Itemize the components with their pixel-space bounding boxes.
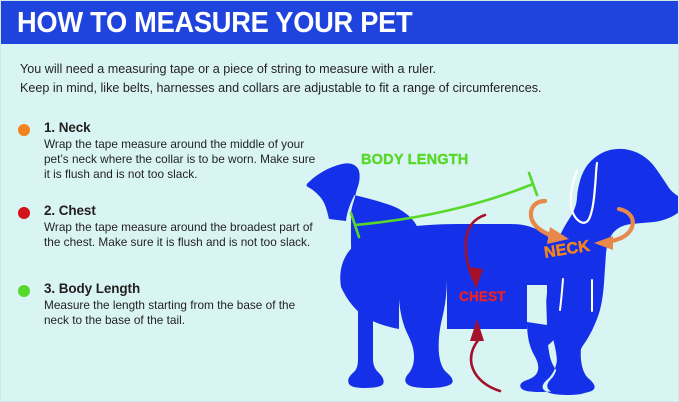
intro-line-2: Keep in mind, like belts, harnesses and … [20,79,660,98]
step-title-neck: 1. Neck [44,119,308,136]
bullet-dot-icon-chest [18,207,30,219]
step-description-chest: Wrap the tape measure around the broades… [44,220,316,250]
step-item-chest: 2. Chest Wrap the tape measure around th… [18,202,308,250]
pet-measuring-infographic: HOW TO MEASURE YOUR PET You will need a … [0,0,679,402]
intro-paragraph: You will need a measuring tape or a piec… [20,60,660,98]
label-chest: CHEST [459,289,506,304]
label-body-length: BODY LENGTH [361,152,468,168]
step-title-body-length: 3. Body Length [44,280,308,297]
header-bar: HOW TO MEASURE YOUR PET [1,1,679,44]
dog-head-icon [547,149,679,279]
step-title-chest: 2. Chest [44,202,308,219]
step-item-neck: 1. Neck Wrap the tape measure around the… [18,119,308,183]
bullet-dot-icon-neck [18,124,30,136]
step-description-body-length: Measure the length starting from the bas… [44,298,316,328]
bullet-dot-icon-body-length [18,285,30,297]
intro-line-1: You will need a measuring tape or a piec… [20,60,660,79]
step-item-body-length: 3. Body Length Measure the length starti… [18,280,308,328]
step-description-neck: Wrap the tape measure around the middle … [44,137,316,183]
page-title: HOW TO MEASURE YOUR PET [17,7,412,39]
measurement-steps-list: 1. Neck Wrap the tape measure around the… [18,119,308,344]
dog-measurement-diagram: BODY LENGTH NECK CHEST [301,97,679,402]
